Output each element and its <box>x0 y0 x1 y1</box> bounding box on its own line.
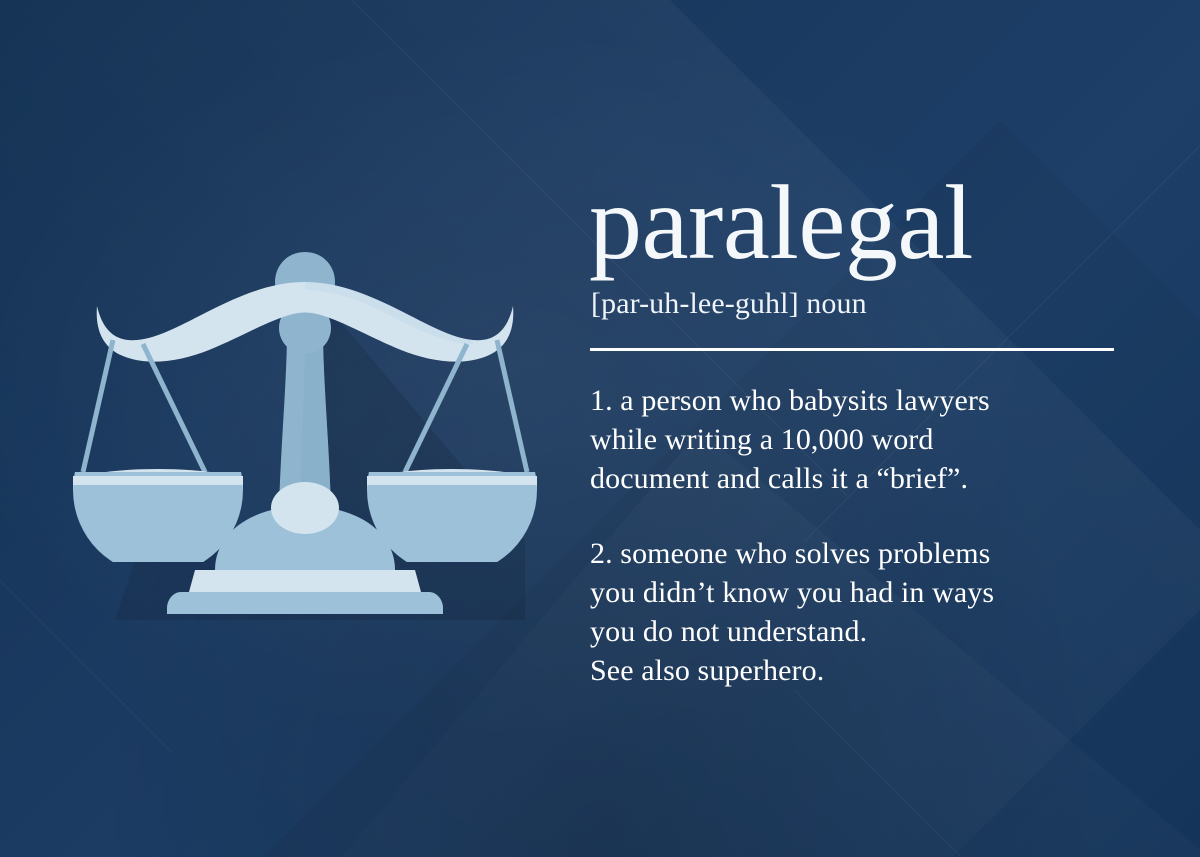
pronunciation-text: [par-uh-lee-guhl] <box>591 287 799 320</box>
poster-canvas: paralegal [par-uh-lee-guhl] noun 1. a pe… <box>0 0 1200 857</box>
scales-string-right-outer <box>497 340 527 472</box>
scales-string-left-outer <box>83 340 113 472</box>
scales-base-plinth <box>167 592 443 614</box>
definition-2-line-4: See also superhero. <box>590 651 1134 690</box>
definition-text-column: paralegal [par-uh-lee-guhl] noun 1. a pe… <box>589 170 1134 690</box>
scales-base-knob <box>271 482 339 534</box>
definition-1-line-2: while writing a 10,000 word <box>590 420 1134 459</box>
definition-2-line-1: 2. someone who solves problems <box>590 534 1134 573</box>
page-title: paralegal <box>589 170 1134 276</box>
part-of-speech: noun <box>806 287 866 320</box>
definition-1-line-1: 1. a person who babysits lawyers <box>590 381 1134 420</box>
pronunciation-line: [par-uh-lee-guhl] noun <box>591 286 1134 322</box>
scales-base-band <box>189 570 421 592</box>
definition-2-line-3: you do not understand. <box>590 612 1134 651</box>
definition-1-line-3: document and calls it a “brief”. <box>590 459 1134 498</box>
definition-item-1: 1. a person who babysits lawyers while w… <box>590 381 1134 498</box>
scales-string-left-inner <box>143 344 205 472</box>
scales-pan-left <box>73 405 243 575</box>
scales-of-justice-illustration <box>55 240 555 620</box>
definition-list: 1. a person who babysits lawyers while w… <box>589 381 1134 690</box>
definition-2-line-2: you didn’t know you had in ways <box>590 573 1134 612</box>
definition-item-2: 2. someone who solves problems you didn’… <box>590 534 1134 690</box>
divider-rule <box>590 348 1114 351</box>
